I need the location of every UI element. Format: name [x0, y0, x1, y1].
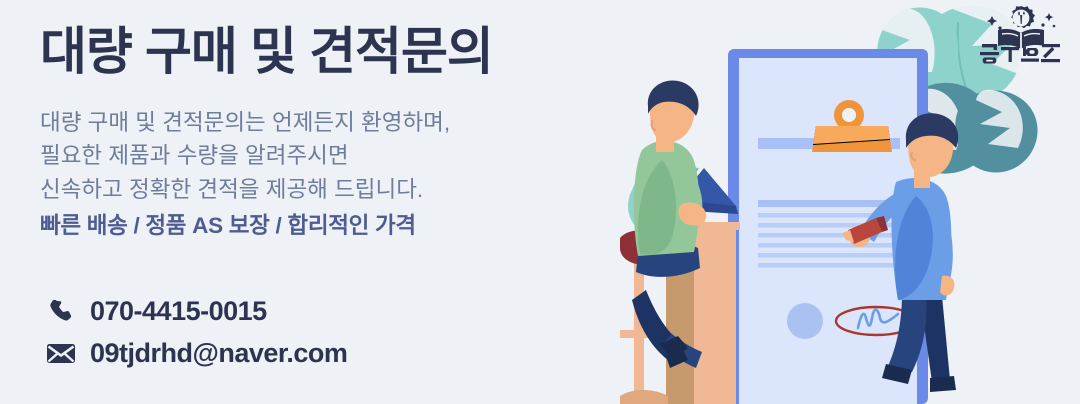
contact-list: 070-4415-0015 09tjdrhd@naver.com — [44, 290, 347, 374]
phone-icon — [44, 296, 78, 326]
contact-row-email[interactable]: 09tjdrhd@naver.com — [44, 332, 347, 374]
envelope-icon — [44, 338, 78, 368]
seal-circle — [787, 303, 823, 339]
book-with-gear-and-tools-icon — [987, 6, 1055, 49]
monstera-leaf-dark-2 — [955, 90, 1037, 173]
email-address: 09tjdrhd@naver.com — [90, 338, 347, 369]
text-block: 대량 구매 및 견적문의 대량 구매 및 견적문의는 언제든지 환영하며, 필요… — [40, 24, 660, 242]
description-line-2: 필요한 제품과 수량을 알려주시면 — [40, 139, 660, 172]
page-title: 대량 구매 및 견적문의 — [40, 24, 660, 80]
description-line-1: 대량 구매 및 견적문의는 언제든지 환영하며, — [40, 106, 660, 139]
contact-row-phone[interactable]: 070-4415-0015 — [44, 290, 347, 332]
promo-banner: 대량 구매 및 견적문의 대량 구매 및 견적문의는 언제든지 환영하며, 필요… — [0, 0, 1080, 404]
description-paragraph: 대량 구매 및 견적문의는 언제든지 환영하며, 필요한 제품과 수량을 알려주… — [40, 106, 660, 242]
phone-number: 070-4415-0015 — [90, 296, 267, 327]
description-line-3: 신속하고 정확한 견적을 제공해 드립니다. — [40, 173, 660, 206]
benefits-highlight: 빠른 배송 / 정품 AS 보장 / 합리적인 가격 — [40, 209, 660, 242]
gongguwiz-logo[interactable] — [980, 4, 1062, 64]
